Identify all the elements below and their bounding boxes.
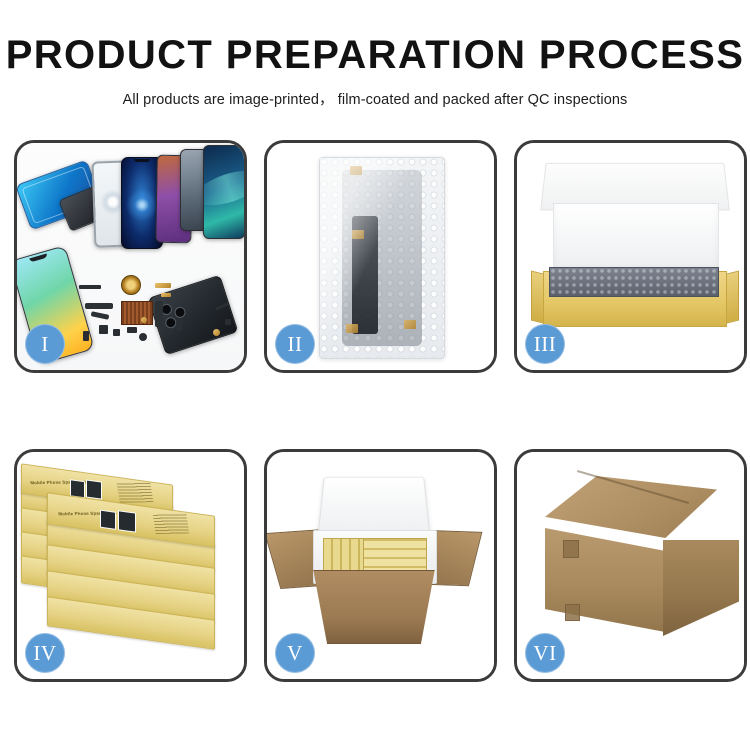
process-step-6: VI bbox=[514, 449, 747, 682]
button-part-icon bbox=[139, 333, 147, 341]
page-title: PRODUCT PREPARATION PROCESS bbox=[0, 34, 750, 76]
sim-tray-icon bbox=[83, 331, 89, 341]
tape-piece-icon bbox=[352, 230, 364, 239]
step-badge-4: IV bbox=[25, 633, 65, 673]
product-window-icon bbox=[86, 479, 102, 499]
phone-teal-display-icon bbox=[203, 145, 245, 239]
header: PRODUCT PREPARATION PROCESS All products… bbox=[0, 34, 750, 109]
process-step-grid: I II bbox=[14, 140, 736, 682]
logic-board-icon bbox=[121, 301, 153, 325]
step-badge-1: I bbox=[25, 324, 65, 364]
spec-text-lines bbox=[153, 513, 190, 534]
carton-tape-icon bbox=[565, 604, 580, 621]
wallpaper-wave-icon bbox=[203, 163, 245, 211]
battery-strip-icon bbox=[79, 285, 101, 289]
flex-cable-icon bbox=[155, 301, 163, 327]
step-6-illustration: VI bbox=[517, 452, 744, 679]
product-window-icon bbox=[118, 510, 136, 533]
small-chip-icon bbox=[127, 327, 137, 333]
flex-cable-icon bbox=[85, 303, 113, 309]
gold-screw-icon bbox=[213, 329, 220, 336]
step-badge-2: II bbox=[275, 324, 315, 364]
step-4-illustration: Mobile Phone Spare Parts Mobile Phone Sp… bbox=[17, 452, 244, 679]
process-step-1: I bbox=[14, 140, 247, 373]
foam-lid-icon bbox=[318, 477, 431, 535]
phone-notch-icon bbox=[134, 159, 150, 162]
white-foam-sheet-icon bbox=[553, 203, 719, 275]
small-chip-icon bbox=[167, 329, 174, 334]
small-chip-icon bbox=[99, 325, 108, 334]
tape-piece-icon bbox=[404, 320, 416, 329]
process-step-4: Mobile Phone Spare Parts Mobile Phone Sp… bbox=[14, 449, 247, 682]
spare-parts-cluster bbox=[79, 273, 209, 359]
page-subtitle: All products are image-printed， film-coa… bbox=[0, 88, 750, 109]
step-2-illustration: II bbox=[267, 143, 494, 370]
phone-notch-icon bbox=[29, 253, 47, 262]
tape-piece-icon bbox=[350, 166, 362, 175]
step-5-illustration: V bbox=[267, 452, 494, 679]
process-step-3: III bbox=[514, 140, 747, 373]
small-chip-icon bbox=[177, 319, 182, 331]
step-badge-3: III bbox=[525, 324, 565, 364]
flex-cable-icon bbox=[91, 311, 110, 320]
step-badge-6: VI bbox=[525, 633, 565, 673]
gold-screw-icon bbox=[141, 317, 147, 323]
carton-body-icon bbox=[305, 570, 443, 644]
process-step-2: II bbox=[264, 140, 497, 373]
small-chip-icon bbox=[225, 319, 231, 325]
wallpaper-burst-icon bbox=[125, 188, 159, 222]
grey-bubble-wrap-tray-icon bbox=[549, 267, 719, 297]
carton-tape-icon bbox=[563, 540, 579, 558]
product-preparation-infographic: PRODUCT PREPARATION PROCESS All products… bbox=[0, 0, 750, 750]
carton-side-face-icon bbox=[663, 540, 739, 636]
gold-connector-icon bbox=[155, 283, 171, 288]
step-3-illustration: III bbox=[517, 143, 744, 370]
step-1-illustration: I bbox=[17, 143, 244, 370]
tape-piece-icon bbox=[346, 324, 358, 333]
process-step-5: V bbox=[264, 449, 497, 682]
gold-connector-icon bbox=[161, 293, 171, 297]
speaker-coil-icon bbox=[121, 275, 141, 295]
product-window-icon bbox=[100, 510, 116, 530]
spec-text-lines bbox=[117, 482, 154, 503]
step-badge-5: V bbox=[275, 633, 315, 673]
bubble-wrap-bag-icon bbox=[319, 157, 445, 359]
small-chip-icon bbox=[113, 329, 120, 336]
